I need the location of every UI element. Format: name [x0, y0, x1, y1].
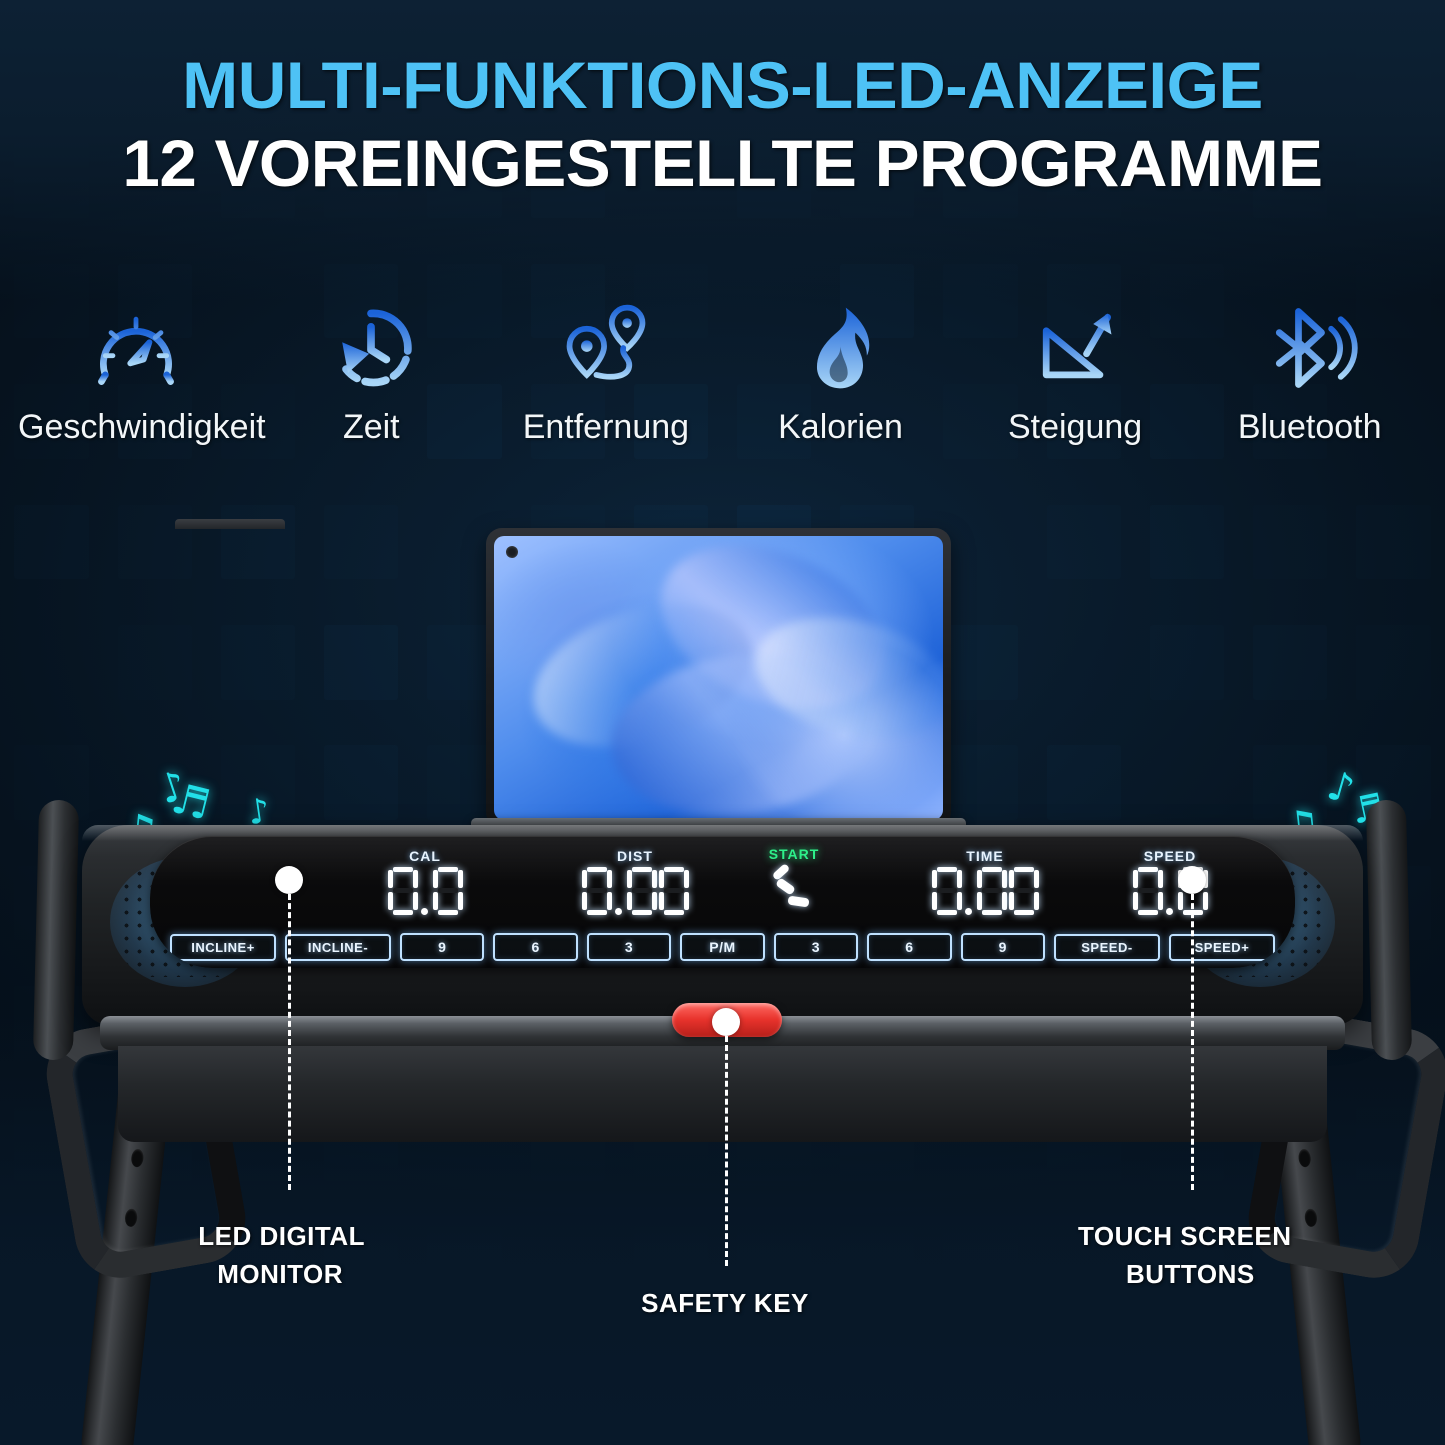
- seven-segment-digit: [582, 867, 612, 915]
- seven-segment-digit: [627, 867, 657, 915]
- touch-button-3[interactable]: 3: [774, 933, 858, 961]
- start-label: START: [734, 846, 854, 862]
- bluetooth-icon: [1192, 296, 1427, 400]
- feature-speed: Geschwindigkeit: [18, 296, 254, 447]
- seven-segment-digit: [659, 867, 689, 915]
- decimal-point: [964, 867, 975, 915]
- feature-bluetooth: Bluetooth: [1192, 296, 1427, 447]
- touch-button-speed[interactable]: SPEED+: [1169, 934, 1275, 961]
- headline-line-2: 12 VOREINGESTELLTE PROGRAMME: [0, 130, 1445, 196]
- flame-icon: [723, 296, 958, 400]
- tablet-device: [486, 528, 951, 828]
- touch-button-9[interactable]: 9: [400, 933, 484, 961]
- map-pin-route-icon: [489, 296, 724, 400]
- seven-segment-digit: [388, 867, 418, 915]
- readout-digits: [1095, 867, 1245, 915]
- readout-calories: CAL: [350, 848, 500, 915]
- readout-digits: [540, 867, 730, 915]
- deck-front-cover: [118, 1046, 1327, 1142]
- callout-line: [725, 1036, 728, 1266]
- seven-segment-digit: [1009, 867, 1039, 915]
- touch-button-p-m[interactable]: P/M: [680, 933, 764, 961]
- clock-arrow-icon: [254, 296, 489, 400]
- feature-incline: Steigung: [958, 296, 1193, 447]
- feature-label: Steigung: [958, 408, 1193, 447]
- speedometer-icon: [18, 296, 254, 400]
- readout-caption: DIST: [540, 848, 730, 864]
- callout-dot: [1178, 866, 1206, 894]
- callout-label: SAFETY KEY: [595, 1285, 855, 1323]
- readout-digits: [350, 867, 500, 915]
- running-man-icon: [764, 866, 824, 916]
- feature-label: Bluetooth: [1192, 408, 1427, 447]
- seven-segment-digit: [433, 867, 463, 915]
- feature-label: Kalorien: [723, 408, 958, 447]
- feature-label: Entfernung: [489, 408, 724, 447]
- infographic-canvas: MULTI-FUNKTIONS-LED-ANZEIGE 12 VOREINGES…: [0, 0, 1445, 1445]
- feature-label: Zeit: [254, 408, 489, 447]
- touch-button-6[interactable]: 6: [493, 933, 577, 961]
- tablet-top-edge: [175, 519, 285, 529]
- feature-calories: Kalorien: [723, 296, 958, 447]
- readout-time: TIME: [890, 848, 1080, 915]
- upright-post-left: [33, 800, 79, 1061]
- readout-caption: TIME: [890, 848, 1080, 864]
- led-display-panel: CAL DIST START TIME SPEED INC: [150, 836, 1295, 968]
- callout-dot: [712, 1008, 740, 1036]
- touch-button-speed[interactable]: SPEED-: [1054, 934, 1160, 961]
- touch-button-row: INCLINE+INCLINE-963P/M369SPEED-SPEED+: [170, 933, 1275, 961]
- readout-distance: DIST: [540, 848, 730, 915]
- readout-digits: [890, 867, 1080, 915]
- incline-arrow-icon: [958, 296, 1193, 400]
- decimal-point: [420, 867, 431, 915]
- feature-distance: Entfernung: [489, 296, 724, 447]
- headline-block: MULTI-FUNKTIONS-LED-ANZEIGE 12 VOREINGES…: [0, 52, 1445, 196]
- readout-speed: SPEED: [1095, 848, 1245, 915]
- callout-line: [1191, 894, 1194, 1190]
- touch-button-6[interactable]: 6: [867, 933, 951, 961]
- seven-segment-digit: [1133, 867, 1163, 915]
- callout-label: LED DIGITAL MONITOR: [0, 1218, 365, 1293]
- touch-button-3[interactable]: 3: [587, 933, 671, 961]
- start-indicator: START: [734, 846, 854, 916]
- headline-line-1: MULTI-FUNKTIONS-LED-ANZEIGE: [0, 52, 1445, 118]
- callout-dot: [275, 866, 303, 894]
- front-camera-icon: [506, 546, 518, 558]
- callout-line: [288, 894, 291, 1190]
- seven-segment-digit: [977, 867, 1007, 915]
- touch-button-incline[interactable]: INCLINE+: [170, 934, 276, 961]
- upright-post-right: [1366, 800, 1412, 1061]
- seven-segment-digit: [932, 867, 962, 915]
- touch-button-9[interactable]: 9: [961, 933, 1045, 961]
- touch-button-incline[interactable]: INCLINE-: [285, 934, 391, 961]
- readout-caption: SPEED: [1095, 848, 1245, 864]
- feature-time: Zeit: [254, 296, 489, 447]
- feature-label: Geschwindigkeit: [18, 408, 254, 447]
- decimal-point: [1165, 867, 1176, 915]
- readout-caption: CAL: [350, 848, 500, 864]
- tablet-screen: [494, 536, 943, 820]
- decimal-point: [614, 867, 625, 915]
- feature-icon-row: Geschwindigkeit Zeit: [0, 296, 1445, 447]
- callout-label: TOUCH SCREEN BUTTONS: [1078, 1218, 1445, 1293]
